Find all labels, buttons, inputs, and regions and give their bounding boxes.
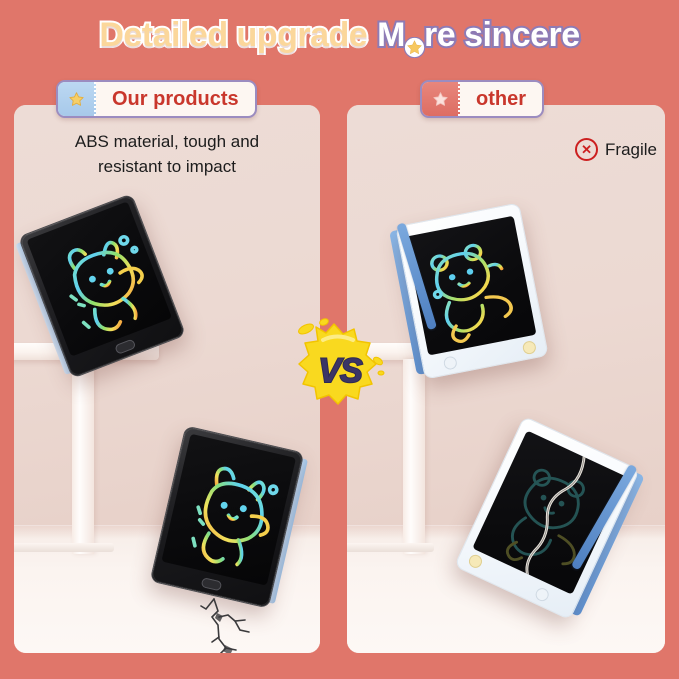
impact-crack [190,597,270,653]
vs-label: VS [293,318,387,418]
vs-badge: VS [293,318,387,418]
tablet-home-button [533,586,550,603]
tablet-clear-button [467,553,484,570]
drawing-rainbow-bear [406,216,536,356]
badge-label: other [460,82,542,116]
title-part-a: Detailed upgrade [99,16,367,55]
title-part-b-pre: M [377,16,405,55]
tablet-home-button [443,355,458,370]
badge-other[interactable]: other [420,80,544,118]
star-icon [422,82,460,116]
panel-our-products [14,105,320,653]
panel-other [347,105,665,653]
caption-line-2: resistant to impact [36,155,298,180]
table-shelf [347,543,434,552]
tablet-clear-button [522,340,537,355]
x-circle-icon: ✕ [575,138,598,161]
comparison-infographic: Detailed upgrade M re sincere [0,0,679,679]
table-leg [72,359,94,554]
caption-line-1: ABS material, tough and [36,130,298,155]
tablet-screen [406,216,536,356]
table-leg [403,359,425,554]
star-icon [404,28,425,49]
status-badge-fragile: ✕ Fragile [575,138,657,161]
star-icon [58,82,96,116]
caption-our-products: ABS material, tough and resistant to imp… [14,130,320,179]
title-part-b-post: re sincere [424,16,580,55]
table-shelf [14,543,114,552]
status-label: Fragile [605,140,657,160]
title-part-b: M re sincere [377,16,580,55]
page-title: Detailed upgrade M re sincere [0,0,679,70]
badge-label: Our products [96,82,255,116]
badge-our-products[interactable]: Our products [56,80,257,118]
